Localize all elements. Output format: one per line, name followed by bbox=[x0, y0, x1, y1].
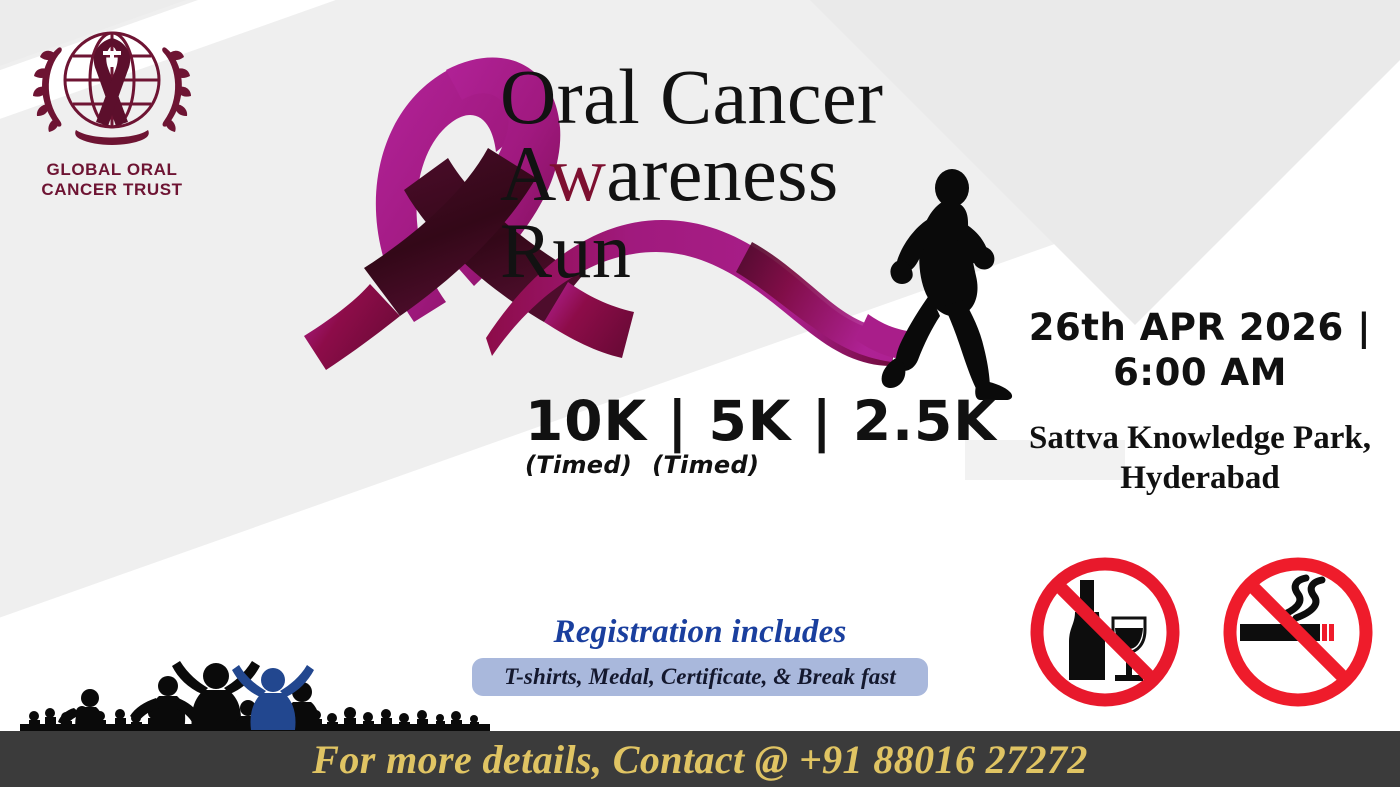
no-alcohol-icon bbox=[1025, 552, 1185, 712]
running-man-silhouette-icon bbox=[880, 168, 1030, 400]
timed-note-10k: (Timed) bbox=[525, 451, 632, 479]
title-line-2-post: areness bbox=[606, 130, 838, 217]
logo-name-line1: GLOBAL ORAL bbox=[24, 160, 200, 180]
venue-line-2: Hyderabad bbox=[1000, 458, 1400, 498]
logo-name-line2: CANCER TRUST bbox=[24, 180, 200, 200]
crowd-of-runners-silhouette-icon bbox=[20, 628, 490, 738]
page-title: Oral Cancer Awareness Run bbox=[500, 58, 883, 290]
contact-text: For more details, Contact @ +91 88016 27… bbox=[312, 736, 1088, 783]
title-line-3: Run bbox=[500, 212, 883, 289]
no-smoking-icon bbox=[1218, 552, 1378, 712]
registration-heading: Registration includes bbox=[460, 614, 940, 651]
title-line-2: Awareness bbox=[500, 135, 883, 212]
distance-options: 10K | 5K | 2.5K bbox=[525, 394, 997, 449]
title-highlight-letter: w bbox=[550, 130, 607, 217]
title-line-2-pre: A bbox=[500, 130, 550, 217]
event-date-time: 26th APR 2026 | 6:00 AM bbox=[1020, 305, 1380, 395]
timed-note-5k: (Timed) bbox=[652, 451, 759, 479]
registration-items-text: T-shirts, Medal, Certificate, & Break fa… bbox=[504, 664, 896, 690]
organization-logo: GLOBAL ORAL CANCER TRUST bbox=[24, 18, 200, 213]
poster-canvas: GLOBAL ORAL CANCER TRUST bbox=[0, 0, 1400, 787]
globe-laurel-ribbon-logo-icon bbox=[24, 18, 200, 158]
contact-footer-bar: For more details, Contact @ +91 88016 27… bbox=[0, 731, 1400, 787]
event-venue: Sattva Knowledge Park, Hyderabad bbox=[1000, 418, 1400, 499]
title-line-1: Oral Cancer bbox=[500, 58, 883, 135]
distance-timed-notes: (Timed)(Timed) bbox=[525, 451, 997, 479]
registration-items-box: T-shirts, Medal, Certificate, & Break fa… bbox=[472, 658, 928, 696]
race-distances: 10K | 5K | 2.5K (Timed)(Timed) bbox=[525, 394, 997, 479]
venue-line-1: Sattva Knowledge Park, bbox=[1000, 418, 1400, 458]
